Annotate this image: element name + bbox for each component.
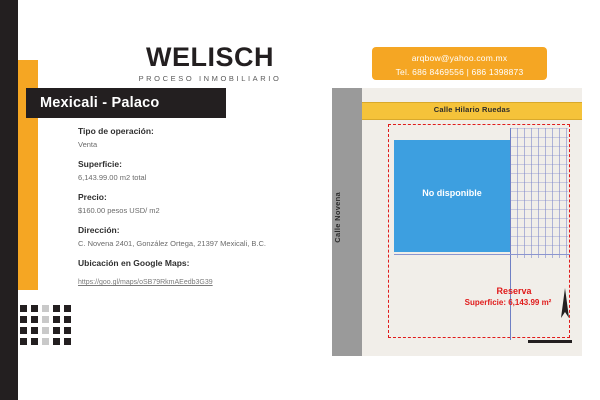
reserve-area-label: Superficie: 6,143.99 m² — [448, 298, 568, 307]
contact-badge: arqbow@yahoo.com.mx Tel. 686 8469556 | 6… — [372, 47, 547, 80]
page-title: Mexicali - Palaco — [26, 88, 226, 118]
parcel-division-line-horizontal — [394, 254, 570, 255]
contact-email[interactable]: arqbow@yahoo.com.mx — [372, 52, 547, 64]
site-plan-map[interactable]: Calle Novena Calle Hilario Ruedas No dis… — [332, 88, 582, 356]
listing-details: Tipo de operación: Venta Superficie: 6,1… — [78, 126, 328, 289]
detail-value-precio: $160.00 pesos USD/ m2 — [78, 205, 328, 216]
reserve-label: Reserva — [462, 286, 566, 296]
detail-label-operacion: Tipo de operación: — [78, 126, 328, 136]
detail-value-operacion: Venta — [78, 139, 328, 150]
detail-label-precio: Precio: — [78, 192, 328, 202]
detail-value-superficie: 6,143.99.00 m2 total — [78, 172, 328, 183]
contact-phones[interactable]: Tel. 686 8469556 | 686 1398873 — [372, 66, 547, 78]
scale-bar-icon — [528, 340, 572, 343]
parcel-hatch-pattern — [510, 128, 568, 258]
unavailable-block-label: No disponible — [394, 188, 510, 198]
detail-label-superficie: Superficie: — [78, 159, 328, 169]
road-hilario-ruedas-label: Calle Hilario Ruedas — [362, 103, 582, 117]
road-novena-label: Calle Novena — [333, 192, 361, 243]
parcel-division-line-vertical — [510, 128, 511, 340]
brand-logo: WELISCH PROCESO INMOBILIARIO — [110, 44, 310, 83]
left-rail-gap — [18, 0, 38, 60]
dot-grid-decoration-icon — [20, 305, 73, 347]
north-arrow-icon — [554, 286, 576, 320]
google-maps-link[interactable]: https://goo.gl/maps/oSB79RkmAEedb3G39 — [78, 279, 213, 286]
brand-tagline: PROCESO INMOBILIARIO — [110, 74, 310, 83]
detail-label-maps: Ubicación en Google Maps: — [78, 258, 328, 268]
detail-label-direccion: Dirección: — [78, 225, 328, 235]
left-dark-rail — [0, 0, 18, 400]
brand-name: WELISCH — [110, 44, 310, 71]
detail-value-direccion: C. Novena 2401, González Ortega, 21397 M… — [78, 238, 328, 249]
